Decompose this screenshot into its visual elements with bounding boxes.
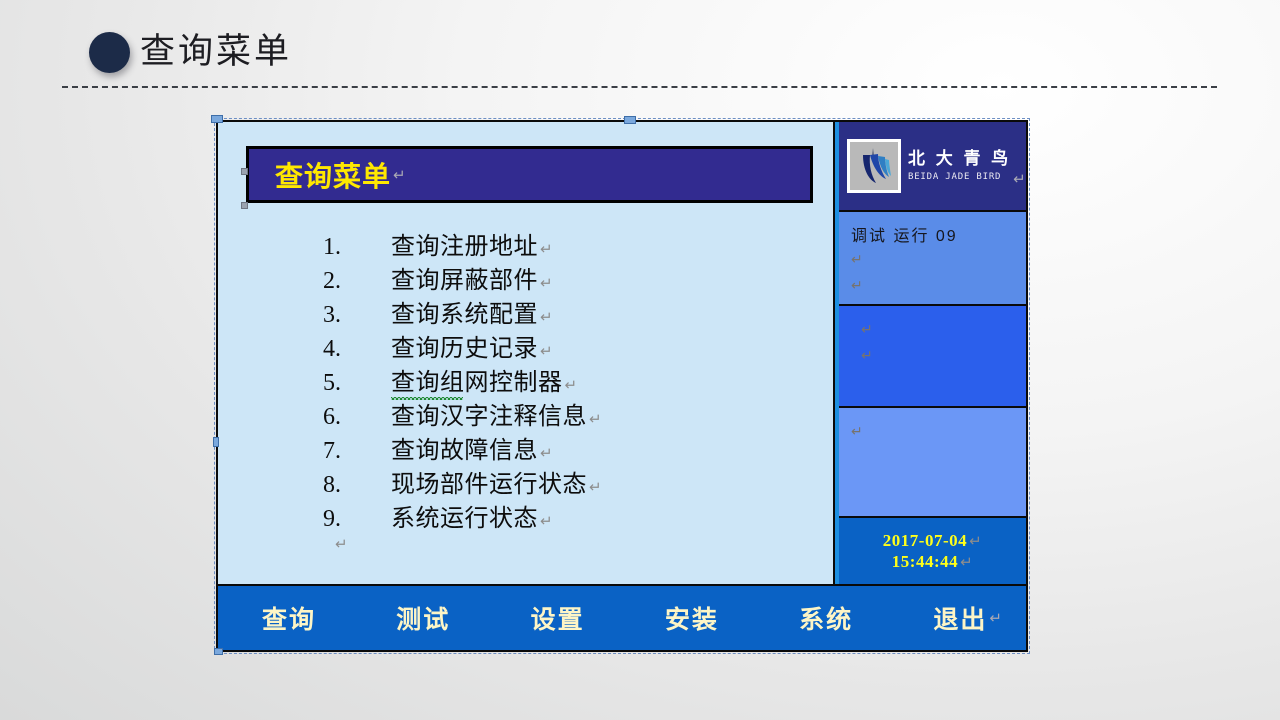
- list-item-label: 查询组网控制器: [391, 362, 563, 397]
- embedded-app-window[interactable]: 查询菜单 ↵ 1. 查询注册地址 ↵ 2. 查询屏蔽部件 ↵ 3.: [216, 120, 1028, 652]
- list-item[interactable]: 4. 查询历史记录 ↵: [323, 328, 602, 362]
- logo-english-name: BEIDA JADE BIRD: [908, 170, 1011, 184]
- clock-time: 15:44:44↵: [892, 552, 973, 572]
- list-item[interactable]: 7. 查询故障信息 ↵: [323, 430, 602, 464]
- sidebar-middle-panel: ↵ ↵: [839, 306, 1026, 408]
- paragraph-mark-icon: ↵: [565, 376, 578, 394]
- list-item[interactable]: 5. 查询组网控制器 ↵: [323, 362, 602, 396]
- selection-handle-left-bottom[interactable]: [241, 202, 248, 209]
- jade-bird-logo-icon: [847, 139, 901, 193]
- paragraph-mark-icon: ↵: [540, 308, 553, 326]
- list-item-number: 3.: [323, 302, 391, 329]
- paragraph-mark-icon: ↵: [540, 342, 553, 360]
- sidebar-status-panel: 调试 运行 09 ↵ ↵: [839, 212, 1026, 306]
- list-item-label: 查询屏蔽部件: [391, 260, 538, 295]
- list-item-label: 现场部件运行状态: [391, 464, 587, 499]
- sidebar-logo-block: 北 大 青 鸟 BEIDA JADE BIRD ↵: [839, 122, 1026, 212]
- app-main-pane: 查询菜单 ↵ 1. 查询注册地址 ↵ 2. 查询屏蔽部件 ↵ 3.: [218, 122, 835, 584]
- menu-title-text: 查询菜单: [275, 155, 391, 195]
- paragraph-mark-icon: ↵: [335, 535, 348, 553]
- list-item-number: 6.: [323, 404, 391, 431]
- app-body: 查询菜单 ↵ 1. 查询注册地址 ↵ 2. 查询屏蔽部件 ↵ 3.: [218, 122, 1026, 584]
- list-item[interactable]: 9. 系统运行状态 ↵: [323, 498, 602, 532]
- list-item[interactable]: 6. 查询汉字注释信息 ↵: [323, 396, 602, 430]
- footer-menu-item-install[interactable]: 安装: [665, 600, 719, 636]
- paragraph-mark-icon: ↵: [851, 272, 1026, 298]
- status-text: 调试 运行 09: [851, 222, 1026, 246]
- paragraph-mark-icon: ↵: [540, 444, 553, 462]
- resize-handle-middle-left[interactable]: [213, 437, 219, 447]
- resize-handle-top-left[interactable]: [211, 115, 223, 123]
- selection-handle-left-top[interactable]: [241, 168, 248, 175]
- list-item[interactable]: 2. 查询屏蔽部件 ↵: [323, 260, 602, 294]
- paragraph-mark-icon: ↵: [589, 410, 602, 428]
- paragraph-mark-icon: ↵: [540, 274, 553, 292]
- sidebar-datetime-panel: 2017-07-04↵ 15:44:44↵: [839, 518, 1026, 584]
- list-item-label: 系统运行状态: [391, 498, 538, 533]
- footer-menu-item-query[interactable]: 查询: [262, 600, 316, 636]
- header-divider: [62, 86, 1217, 88]
- list-item-label: 查询系统配置: [391, 294, 538, 329]
- list-item-label: 查询汉字注释信息: [391, 396, 587, 431]
- list-item-number: 4.: [323, 336, 391, 363]
- app-footer-menubar: 查询 测试 设置 安装 系统 退出 ↵: [218, 584, 1026, 650]
- paragraph-mark-icon: ↵: [540, 240, 553, 258]
- paragraph-mark-icon: ↵: [851, 246, 1026, 272]
- paragraph-mark-icon: ↵: [851, 418, 1026, 444]
- paragraph-mark-icon: ↵: [861, 342, 1026, 368]
- paragraph-mark-icon: ↵: [589, 478, 602, 496]
- list-item-label: 查询故障信息: [391, 430, 538, 465]
- paragraph-mark-icon: ↵: [960, 554, 973, 571]
- logo-text-block: 北 大 青 鸟 BEIDA JADE BIRD: [908, 148, 1011, 184]
- page-title: 查询菜单: [140, 28, 292, 76]
- resize-handle-top-center[interactable]: [624, 116, 636, 124]
- list-item-number: 7.: [323, 438, 391, 465]
- list-item-number: 8.: [323, 472, 391, 499]
- sidebar-lower-panel: ↵: [839, 408, 1026, 518]
- list-item[interactable]: 1. 查询注册地址 ↵: [323, 226, 602, 260]
- app-sidebar: 北 大 青 鸟 BEIDA JADE BIRD ↵ 调试 运行 09 ↵ ↵ ↵…: [835, 122, 1026, 584]
- resize-handle-bottom-left[interactable]: [214, 648, 223, 655]
- list-item-number: 2.: [323, 268, 391, 295]
- paragraph-mark-icon: ↵: [540, 512, 553, 530]
- clock-date: 2017-07-04↵: [883, 531, 982, 551]
- footer-menu-item-exit[interactable]: 退出: [933, 600, 987, 636]
- list-item-label: 查询注册地址: [391, 226, 538, 261]
- list-item-number: 5.: [323, 370, 391, 397]
- menu-title-banner: 查询菜单 ↵: [246, 146, 813, 203]
- paragraph-mark-icon: ↵: [393, 166, 406, 184]
- list-item[interactable]: 8. 现场部件运行状态 ↵: [323, 464, 602, 498]
- footer-menu-item-system[interactable]: 系统: [799, 600, 853, 636]
- list-item-label: 查询历史记录: [391, 328, 538, 363]
- list-item[interactable]: 3. 查询系统配置 ↵: [323, 294, 602, 328]
- footer-menu-item-settings[interactable]: 设置: [531, 600, 585, 636]
- filled-circle-bullet-icon: [89, 32, 130, 73]
- slide-header: 查询菜单: [0, 0, 1280, 92]
- list-item-number: 1.: [323, 234, 391, 261]
- paragraph-mark-icon: ↵: [861, 316, 1026, 342]
- list-item-number: 9.: [323, 506, 391, 533]
- query-menu-list: 1. 查询注册地址 ↵ 2. 查询屏蔽部件 ↵ 3. 查询系统配置 ↵ 4. 查…: [323, 226, 602, 532]
- footer-menu-item-test[interactable]: 测试: [396, 600, 450, 636]
- paragraph-mark-icon: ↵: [989, 609, 1002, 627]
- paragraph-mark-icon: ↵: [1013, 170, 1026, 188]
- paragraph-mark-icon: ↵: [969, 533, 982, 550]
- logo-chinese-name: 北 大 青 鸟: [908, 148, 1011, 170]
